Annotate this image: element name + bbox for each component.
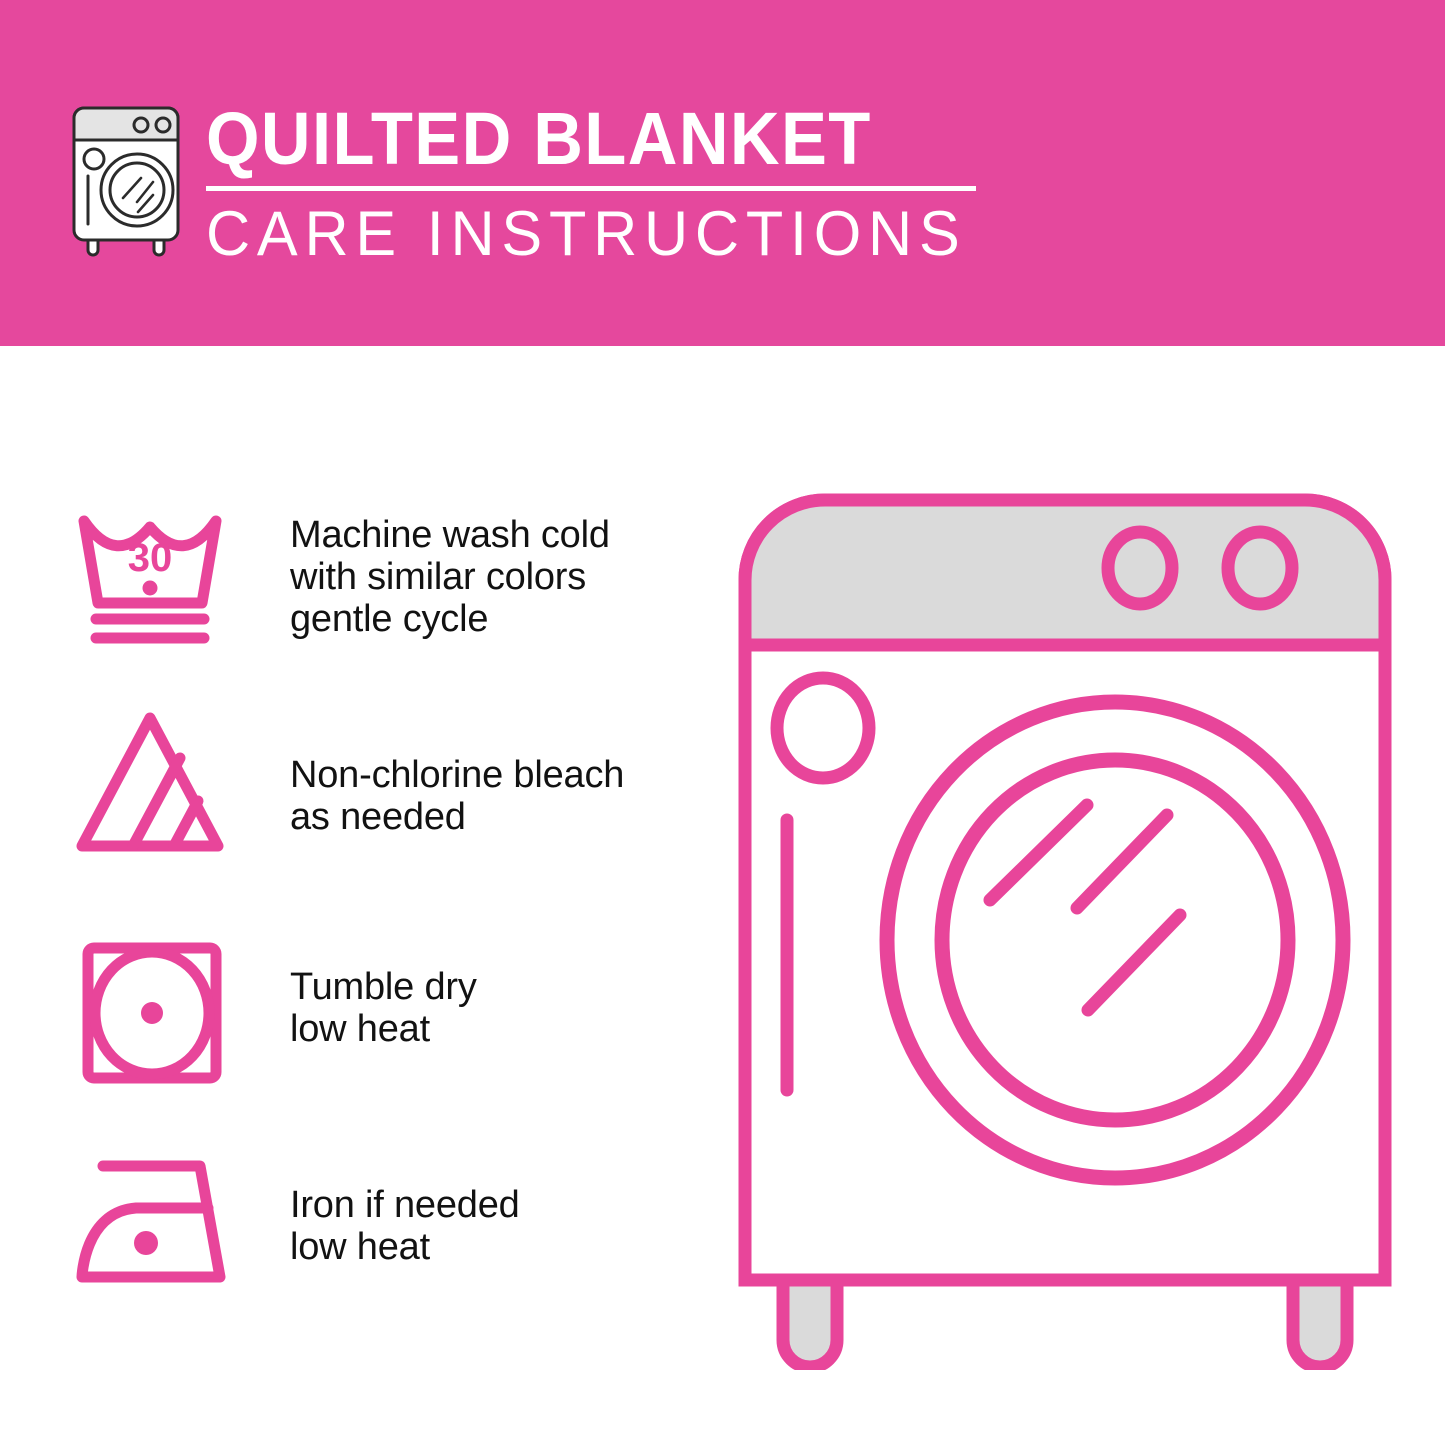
page-title: QUILTED BLANKET	[206, 100, 941, 178]
iron-icon	[70, 1146, 235, 1296]
instruction-line: low heat	[290, 1008, 477, 1050]
instruction-line: Machine wash cold	[290, 514, 610, 556]
instruction-line: with similar colors	[290, 556, 610, 598]
list-item-text: Non-chlorine bleach as needed	[235, 706, 624, 838]
instruction-line: low heat	[290, 1226, 520, 1268]
bleach-triangle-icon	[70, 706, 235, 856]
list-item: Iron if needed low heat	[70, 1146, 690, 1296]
header-title-block: QUILTED BLANKET CARE INSTRUCTIONS	[206, 100, 996, 267]
washing-machine-illustration	[715, 470, 1415, 1370]
page-subtitle: CARE INSTRUCTIONS	[206, 201, 972, 267]
detergent-port	[777, 678, 869, 778]
drum-inner-ring	[942, 760, 1288, 1120]
list-item: Tumble dry low heat	[70, 938, 690, 1088]
instruction-line: Iron if needed	[290, 1184, 520, 1226]
wash-tub-30-icon: 30	[70, 499, 235, 649]
list-item: 30 Machine wash cold with similar colors…	[70, 499, 690, 649]
list-item-text: Tumble dry low heat	[235, 938, 477, 1050]
header-banner: QUILTED BLANKET CARE INSTRUCTIONS	[0, 0, 1445, 346]
washer-leg-left	[783, 1280, 837, 1367]
washer-leg-right	[1293, 1280, 1347, 1367]
list-item-text: Machine wash cold with similar colors ge…	[235, 499, 610, 640]
instruction-line: as needed	[290, 796, 624, 838]
tumble-dry-icon	[70, 938, 235, 1088]
instruction-line: gentle cycle	[290, 598, 610, 640]
washer-dial-left	[1108, 532, 1172, 604]
washer-dial-right	[1228, 532, 1292, 604]
title-divider	[206, 186, 976, 191]
wash-temperature-label: 30	[128, 536, 173, 580]
washing-machine-icon	[58, 98, 194, 258]
care-instruction-list: 30 Machine wash cold with similar colors…	[0, 346, 700, 1445]
instruction-line: Non-chlorine bleach	[290, 754, 624, 796]
instruction-line: Tumble dry	[290, 966, 477, 1008]
list-item: Non-chlorine bleach as needed	[70, 706, 690, 856]
list-item-text: Iron if needed low heat	[235, 1146, 520, 1268]
